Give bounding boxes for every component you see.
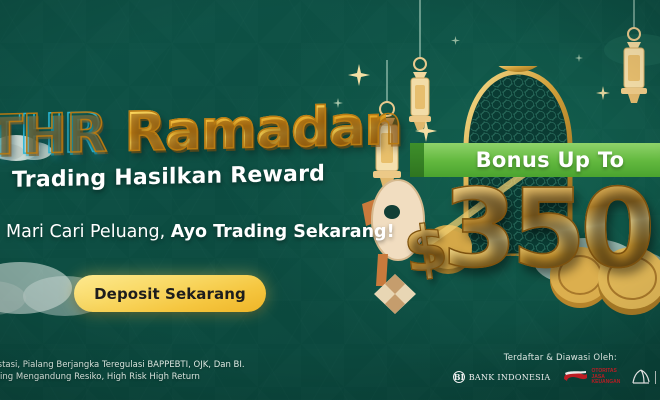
disclaimer-line-2: Trading Mengandung Resiko, High Risk Hig… — [0, 371, 245, 384]
bappebti-mark-icon — [631, 369, 651, 385]
bank-indonesia-label: BANK INDONESIA — [469, 373, 551, 382]
ojk-mark-icon — [562, 370, 588, 385]
lantern-icon — [612, 0, 656, 120]
page-title: THR Ramadan — [0, 99, 386, 163]
logo-divider — [655, 371, 656, 384]
disclaimer: nvestasi, Pialang Berjangka Teregulasi B… — [0, 359, 245, 385]
headline-block: THR Ramadan Trading Hasilkan Reward — [0, 104, 386, 189]
sparkle-star-icon — [575, 54, 583, 62]
sparkle-star-icon — [596, 86, 610, 100]
regulators-block: Terdaftar & Diawasi Oleh: BI BANK INDONE… — [453, 353, 660, 386]
bappebti-logo: B — [631, 369, 660, 385]
bank-indonesia-mark: BI — [453, 371, 465, 383]
title-ramadan: Ramadan — [124, 93, 401, 163]
tagline: Mari Cari Peluang, Ayo Trading Sekarang! — [6, 222, 395, 242]
deposit-button[interactable]: Deposit Sekarang — [74, 275, 266, 312]
disclaimer-line-1: nvestasi, Pialang Berjangka Teregulasi B… — [0, 359, 245, 372]
tagline-bold: Ayo Trading Sekarang! — [171, 222, 395, 242]
bank-indonesia-logo: BI BANK INDONESIA — [453, 371, 551, 383]
regulators-title: Terdaftar & Diawasi Oleh: — [453, 353, 660, 363]
tagline-normal: Mari Cari Peluang, — [6, 222, 171, 242]
title-thr: THR — [0, 101, 107, 167]
regulator-logos: BI BANK INDONESIA OTORITAS JASA KEUANGAN — [453, 369, 660, 386]
deposit-button-label: Deposit Sekarang — [94, 285, 246, 303]
sparkle-star-icon — [451, 36, 460, 45]
ojk-line-3: KEUANGAN — [592, 380, 621, 386]
ojk-label: OTORITAS JASA KEUANGAN — [592, 369, 621, 386]
ribbon-tail-left — [410, 143, 426, 177]
ojk-logo: OTORITAS JASA KEUANGAN — [562, 369, 621, 386]
bonus-amount: 350 — [442, 176, 649, 284]
promo-banner: THR Ramadan Trading Hasilkan Reward Mari… — [0, 0, 660, 400]
